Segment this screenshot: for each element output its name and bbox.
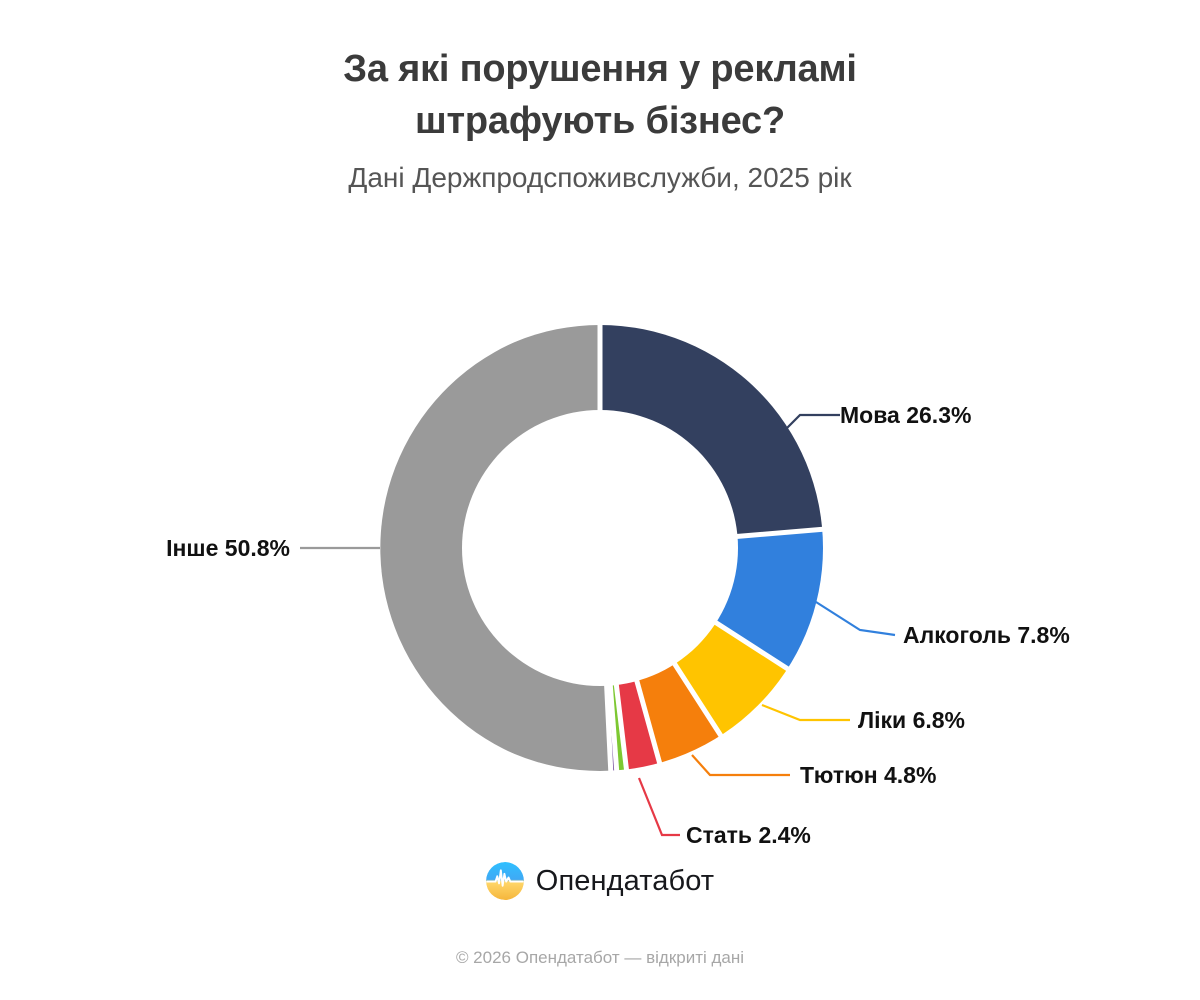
leader-line-stat <box>639 778 680 835</box>
donut-chart-svg: Мова 26.3% Алкоголь 7.8% Ліки 6.8% Тютюн… <box>0 250 1200 860</box>
label-inshe: Інше 50.8% <box>166 535 290 561</box>
donut-center-hole <box>464 412 736 684</box>
opendatabot-logo-icon <box>486 862 524 900</box>
leader-line-tyutyun <box>692 755 790 775</box>
footer-copyright: © 2026 Опендатабот — відкриті дані <box>0 948 1200 968</box>
label-stat: Стать 2.4% <box>686 822 811 848</box>
donut-chart: Мова 26.3% Алкоголь 7.8% Ліки 6.8% Тютюн… <box>0 250 1200 860</box>
brand-block: Опендатабот <box>0 862 1200 900</box>
label-mova: Мова 26.3% <box>840 402 971 428</box>
page-title: За які порушення у рекламі штрафують біз… <box>250 44 950 147</box>
label-alkohol: Алкоголь 7.8% <box>903 622 1070 648</box>
label-tyutyun: Тютюн 4.8% <box>800 762 936 788</box>
title-line-1: За які порушення у рекламі <box>250 44 950 96</box>
leader-line-liky <box>762 705 850 720</box>
brand-name: Опендатабот <box>536 865 714 898</box>
title-line-2: штрафують бізнес? <box>250 96 950 148</box>
chart-page: За які порушення у рекламі штрафують біз… <box>0 0 1200 1000</box>
chart-subtitle: Дані Держпродспоживслужби, 2025 рік <box>0 161 1200 195</box>
leader-line-alkohol <box>816 602 895 635</box>
chart-header: За які порушення у рекламі штрафують біз… <box>0 44 1200 195</box>
label-liky: Ліки 6.8% <box>858 707 965 733</box>
